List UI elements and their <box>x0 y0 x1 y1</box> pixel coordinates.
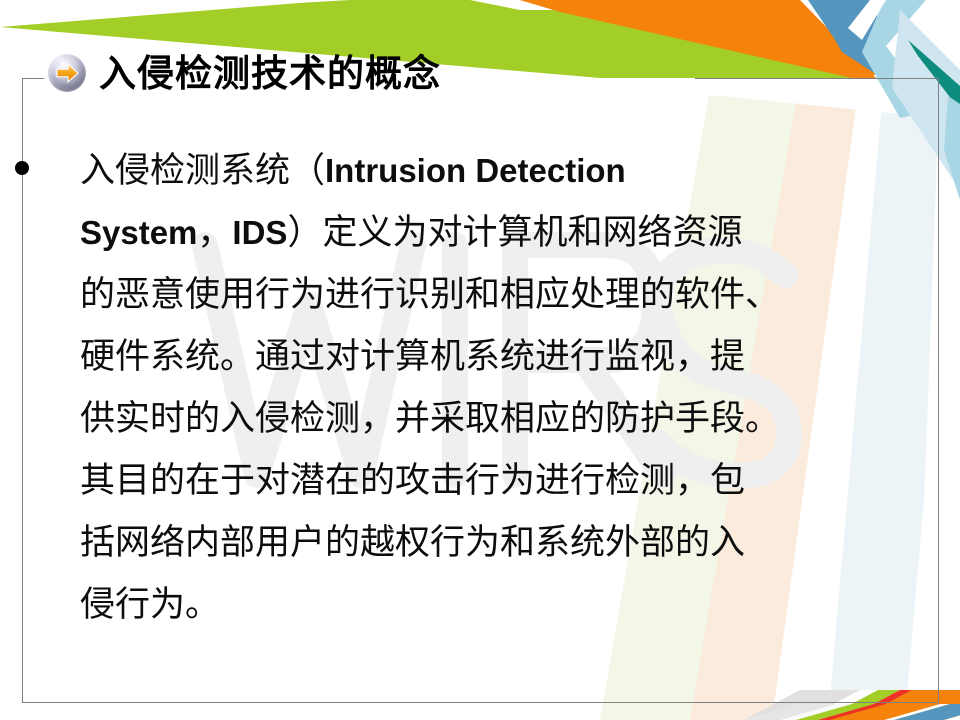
body-text-cjk: 供实时的入侵检测，并采取相应的防护手段。 <box>80 399 780 438</box>
body-line: 硬件系统。通过对计算机系统进行监视，提 <box>80 326 840 388</box>
body-text-cjk: 的恶意使用行为进行识别和相应处理的软件、 <box>80 275 780 314</box>
bullet-dot-icon <box>15 161 29 175</box>
body-line: 供实时的入侵检测，并采取相应的防护手段。 <box>80 388 840 450</box>
body-line: 入侵检测系统（Intrusion Detection <box>80 140 840 202</box>
body-text-cjk: 侵行为。 <box>80 585 220 624</box>
body-line: System，IDS）定义为对计算机和网络资源 <box>80 202 840 264</box>
body-text-latin: IDS <box>232 214 287 251</box>
arrow-right-circle-icon <box>48 54 86 92</box>
body-text-cjk: ）定义为对计算机和网络资源 <box>287 213 742 252</box>
body-text-cjk: 括网络内部用户的越权行为和系统外部的入 <box>80 523 745 562</box>
frame-top-left-stub <box>22 78 44 79</box>
body-line: 括网络内部用户的越权行为和系统外部的入 <box>80 512 840 574</box>
body-line: 其目的在于对潜在的攻击行为进行检测，包 <box>80 450 840 512</box>
frame-top-right-stub <box>695 78 939 79</box>
body-text-latin: Intrusion Detection <box>325 152 626 189</box>
page-title: 入侵检测技术的概念 <box>99 55 441 92</box>
body-text-cjk: 入侵检测系统（ <box>80 151 325 190</box>
frame-right-border <box>938 78 939 703</box>
frame-bottom-border <box>22 702 939 703</box>
body-line: 侵行为。 <box>80 574 840 636</box>
arrow-right-glyph <box>48 54 86 92</box>
slide-title-row: 入侵检测技术的概念 <box>48 45 441 101</box>
body-text-cjk: 其目的在于对潜在的攻击行为进行检测，包 <box>80 461 745 500</box>
body-text-latin: System <box>80 214 197 251</box>
body-text-cjk: ， <box>197 213 232 252</box>
body-text-cjk: 硬件系统。通过对计算机系统进行监视，提 <box>80 337 745 376</box>
slide-body: 入侵检测系统（Intrusion Detection System，IDS）定义… <box>80 140 840 636</box>
slide-canvas: 入侵检测技术的概念 入侵检测系统（Intrusion Detection Sys… <box>0 0 960 720</box>
body-line: 的恶意使用行为进行识别和相应处理的软件、 <box>80 264 840 326</box>
